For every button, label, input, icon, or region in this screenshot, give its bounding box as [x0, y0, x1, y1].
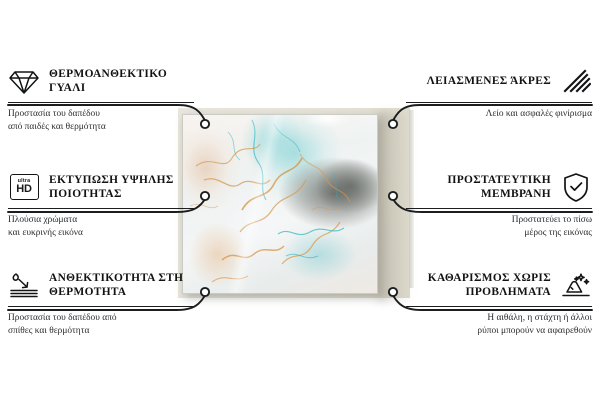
feature-title: ΚΑΘΑΡΙΣΜΟΣ ΧΩΡΙΣ ΠΡΟΒΛΗΜΑΤΑ [406, 271, 551, 300]
divider [406, 208, 592, 209]
feature-header: ΑΝΘΕΚΤΙΚΟΤΗΤΑ ΣΤΗ ΘΕΡΜΟΤΗΤΑ [8, 268, 194, 302]
easy-clean-icon [560, 269, 592, 301]
feature-description: Λείο και ασφαλές φινίρισμα [406, 108, 592, 121]
heat-deflection-icon [8, 269, 40, 301]
feature-high-quality-print: ultra HD ΕΚΤΥΠΩΣΗ ΥΨΗΛΗΣ ΠΟΙΟΤΗΤΑΣ Πλούσ… [8, 170, 194, 241]
diamond-icon [8, 65, 40, 97]
feature-header: ΚΑΘΑΡΙΣΜΟΣ ΧΩΡΙΣ ΠΡΟΒΛΗΜΑΤΑ [406, 268, 592, 302]
glass-reflection [182, 114, 378, 294]
feature-title: ΠΡΟΣΤΑΤΕΥΤΙΚΗ ΜΕΜΒΡΑΝΗ [406, 173, 551, 202]
polished-edge-icon [560, 65, 592, 97]
divider [8, 102, 194, 103]
divider [406, 102, 592, 103]
feature-heat-resistant-glass: ΘΕΡΜΟΑΝΘΕΚΤΙΚΟ ΓΥΑΛΙ Προστασία του δαπέδ… [8, 64, 194, 135]
product-image [178, 108, 410, 298]
feature-polished-edges: ΛΕΙΑΣΜΕΝΕΣ ΆΚΡΕΣ Λείο και ασφαλές φινίρι… [406, 64, 592, 121]
ultra-hd-large-label: HD [16, 184, 32, 195]
feature-description: Προστασία του δαπέδου από σπίθες και θερ… [8, 312, 194, 339]
infographic-canvas: ΘΕΡΜΟΑΝΘΕΚΤΙΚΟ ΓΥΑΛΙ Προστασία του δαπέδ… [0, 0, 600, 400]
feature-header: ΠΡΟΣΤΑΤΕΥΤΙΚΗ ΜΕΜΒΡΑΝΗ [406, 170, 592, 204]
feature-description: Προστατεύει το πίσω μέρος της εικόνας [406, 214, 592, 241]
feature-description: Η αιθάλη, η στάχτη ή άλλοι ρύποι μπορούν… [406, 312, 592, 339]
feature-description: Πλούσια χρώματα και ευκρινής εικόνα [8, 214, 194, 241]
glass-panel [182, 114, 378, 294]
shield-check-icon [560, 171, 592, 203]
feature-title: ΕΚΤΥΠΩΣΗ ΥΨΗΛΗΣ ΠΟΙΟΤΗΤΑΣ [49, 173, 194, 202]
feature-easy-cleaning: ΚΑΘΑΡΙΣΜΟΣ ΧΩΡΙΣ ΠΡΟΒΛΗΜΑΤΑ Η αιθάλη, η … [406, 268, 592, 339]
feature-title: ΑΝΘΕΚΤΙΚΟΤΗΤΑ ΣΤΗ ΘΕΡΜΟΤΗΤΑ [49, 271, 194, 300]
feature-title: ΛΕΙΑΣΜΕΝΕΣ ΆΚΡΕΣ [406, 74, 551, 88]
feature-protective-membrane: ΠΡΟΣΤΑΤΕΥΤΙΚΗ ΜΕΜΒΡΑΝΗ Προστατεύει το πί… [406, 170, 592, 241]
divider [406, 306, 592, 307]
feature-header: ΛΕΙΑΣΜΕΝΕΣ ΆΚΡΕΣ [406, 64, 592, 98]
ultra-hd-icon: ultra HD [8, 171, 40, 203]
divider [8, 208, 194, 209]
feature-description: Προστασία του δαπέδου από παιδές και θερ… [8, 108, 194, 135]
feature-header: ultra HD ΕΚΤΥΠΩΣΗ ΥΨΗΛΗΣ ΠΟΙΟΤΗΤΑΣ [8, 170, 194, 204]
feature-header: ΘΕΡΜΟΑΝΘΕΚΤΙΚΟ ΓΥΑΛΙ [8, 64, 194, 98]
divider [8, 306, 194, 307]
feature-title: ΘΕΡΜΟΑΝΘΕΚΤΙΚΟ ΓΥΑΛΙ [49, 67, 194, 96]
feature-heat-durability: ΑΝΘΕΚΤΙΚΟΤΗΤΑ ΣΤΗ ΘΕΡΜΟΤΗΤΑ Προστασία το… [8, 268, 194, 339]
